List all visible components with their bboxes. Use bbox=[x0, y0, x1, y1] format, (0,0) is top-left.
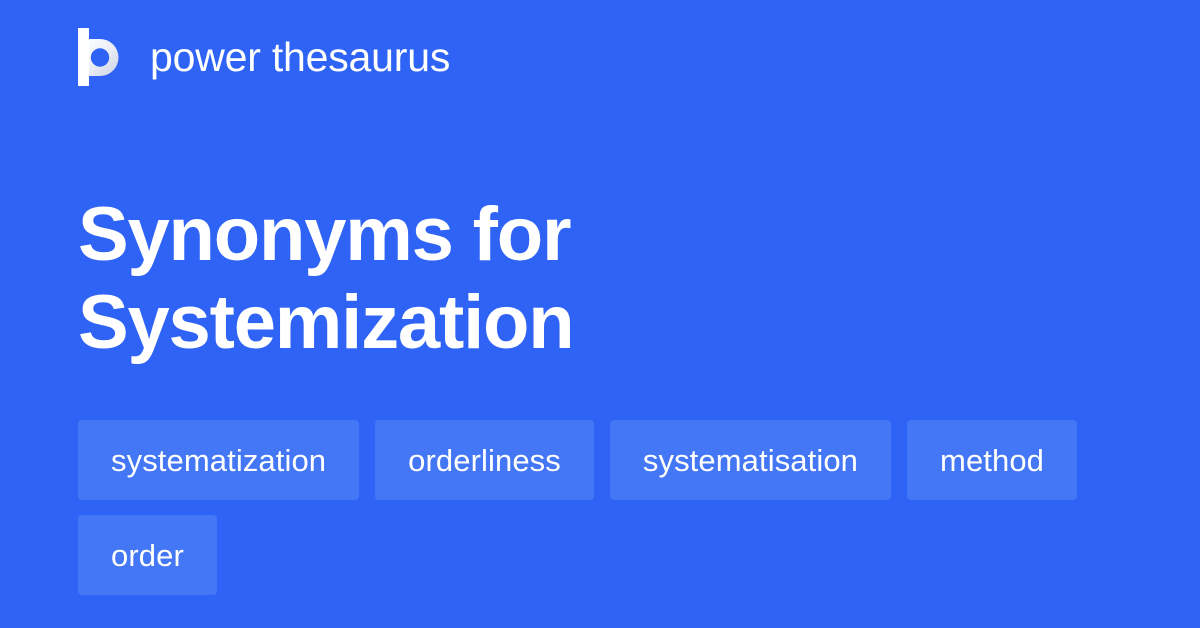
synonym-tag[interactable]: order bbox=[78, 515, 217, 595]
page-title-line-1: Synonyms for bbox=[78, 191, 898, 279]
power-thesaurus-b-logo-icon bbox=[78, 28, 130, 86]
brand-header[interactable]: power thesaurus bbox=[78, 26, 450, 88]
page-title-line-2: Systemization bbox=[78, 279, 898, 367]
synonym-tag[interactable]: orderliness bbox=[375, 420, 594, 500]
synonym-tag[interactable]: method bbox=[907, 420, 1077, 500]
share-card: power thesaurus Synonyms for Systemizati… bbox=[0, 0, 1200, 628]
brand-name: power thesaurus bbox=[150, 37, 450, 78]
synonym-tag[interactable]: systematization bbox=[78, 420, 359, 500]
page-title: Synonyms for Systemization bbox=[78, 191, 898, 367]
synonym-tag[interactable]: systematisation bbox=[610, 420, 891, 500]
synonym-tag-list: systematization orderliness systematisat… bbox=[78, 420, 1128, 595]
